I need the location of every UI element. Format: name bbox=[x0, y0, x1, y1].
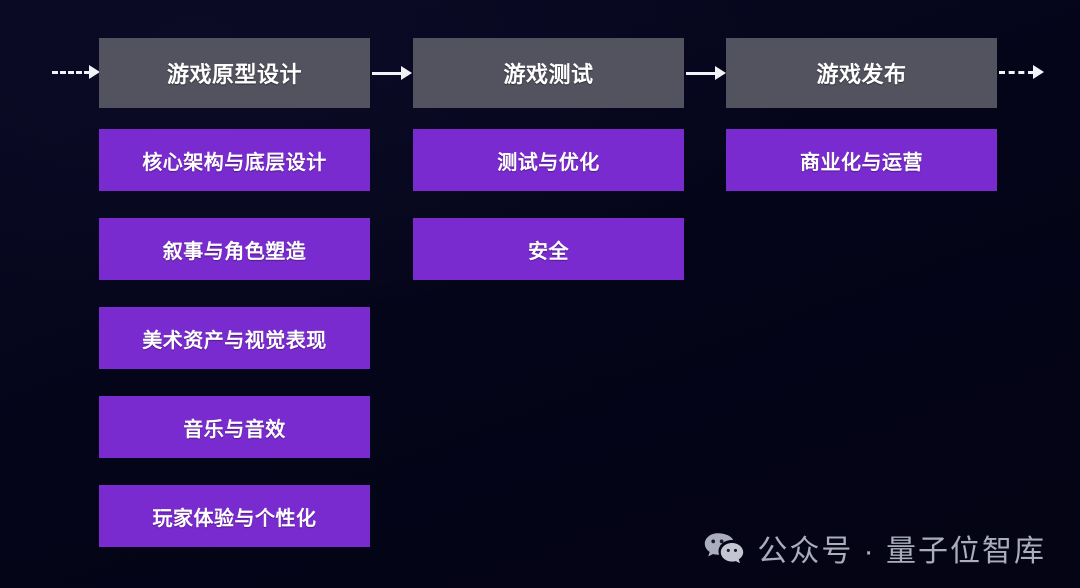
stage2-to-stage3-arrow bbox=[686, 64, 726, 82]
item-box-1-1-label: 核心架构与底层设计 bbox=[142, 146, 327, 175]
arrow-shaft bbox=[999, 71, 1034, 74]
arrow-shaft bbox=[52, 71, 90, 74]
item-box-2-1[interactable]: 测试与优化 bbox=[413, 129, 684, 191]
item-box-1-5[interactable]: 玩家体验与个性化 bbox=[99, 485, 370, 547]
item-box-1-1[interactable]: 核心架构与底层设计 bbox=[99, 129, 370, 191]
item-box-2-2-label: 安全 bbox=[528, 235, 569, 264]
diagram-canvas: 游戏原型设计 核心架构与底层设计 叙事与角色塑造 美术资产与视觉表现 音乐与音效… bbox=[0, 0, 1080, 588]
item-box-3-1-label: 商业化与运营 bbox=[800, 146, 923, 175]
inbound-dashed-arrow bbox=[52, 63, 100, 81]
stage-box-2-label: 游戏测试 bbox=[503, 57, 593, 89]
watermark: 公众号 · 量子位智库 bbox=[704, 526, 1046, 570]
item-box-3-1[interactable]: 商业化与运营 bbox=[726, 129, 997, 191]
item-box-1-3[interactable]: 美术资产与视觉表现 bbox=[99, 307, 370, 369]
stage-box-3-label: 游戏发布 bbox=[816, 57, 906, 89]
wechat-icon bbox=[704, 531, 744, 565]
stage-box-2[interactable]: 游戏测试 bbox=[413, 38, 684, 108]
item-box-1-2[interactable]: 叙事与角色塑造 bbox=[99, 218, 370, 280]
item-box-2-2[interactable]: 安全 bbox=[413, 218, 684, 280]
arrow-shaft bbox=[372, 72, 402, 75]
item-box-1-2-label: 叙事与角色塑造 bbox=[163, 235, 307, 264]
stage-box-1[interactable]: 游戏原型设计 bbox=[99, 38, 370, 108]
item-box-1-4-label: 音乐与音效 bbox=[183, 413, 286, 442]
item-box-1-3-label: 美术资产与视觉表现 bbox=[142, 324, 327, 353]
stage-box-1-label: 游戏原型设计 bbox=[167, 57, 302, 89]
stage-box-3[interactable]: 游戏发布 bbox=[726, 38, 997, 108]
arrow-shaft bbox=[686, 72, 716, 75]
arrow-head bbox=[715, 66, 726, 80]
watermark-label: 公众号 · 量子位智库 bbox=[757, 526, 1046, 570]
item-box-1-4[interactable]: 音乐与音效 bbox=[99, 396, 370, 458]
item-box-1-5-label: 玩家体验与个性化 bbox=[153, 502, 317, 531]
arrow-head bbox=[401, 66, 412, 80]
item-box-2-1-label: 测试与优化 bbox=[497, 146, 600, 175]
arrow-head bbox=[1033, 65, 1044, 79]
outbound-dashed-arrow bbox=[999, 63, 1044, 81]
stage1-to-stage2-arrow bbox=[372, 64, 412, 82]
